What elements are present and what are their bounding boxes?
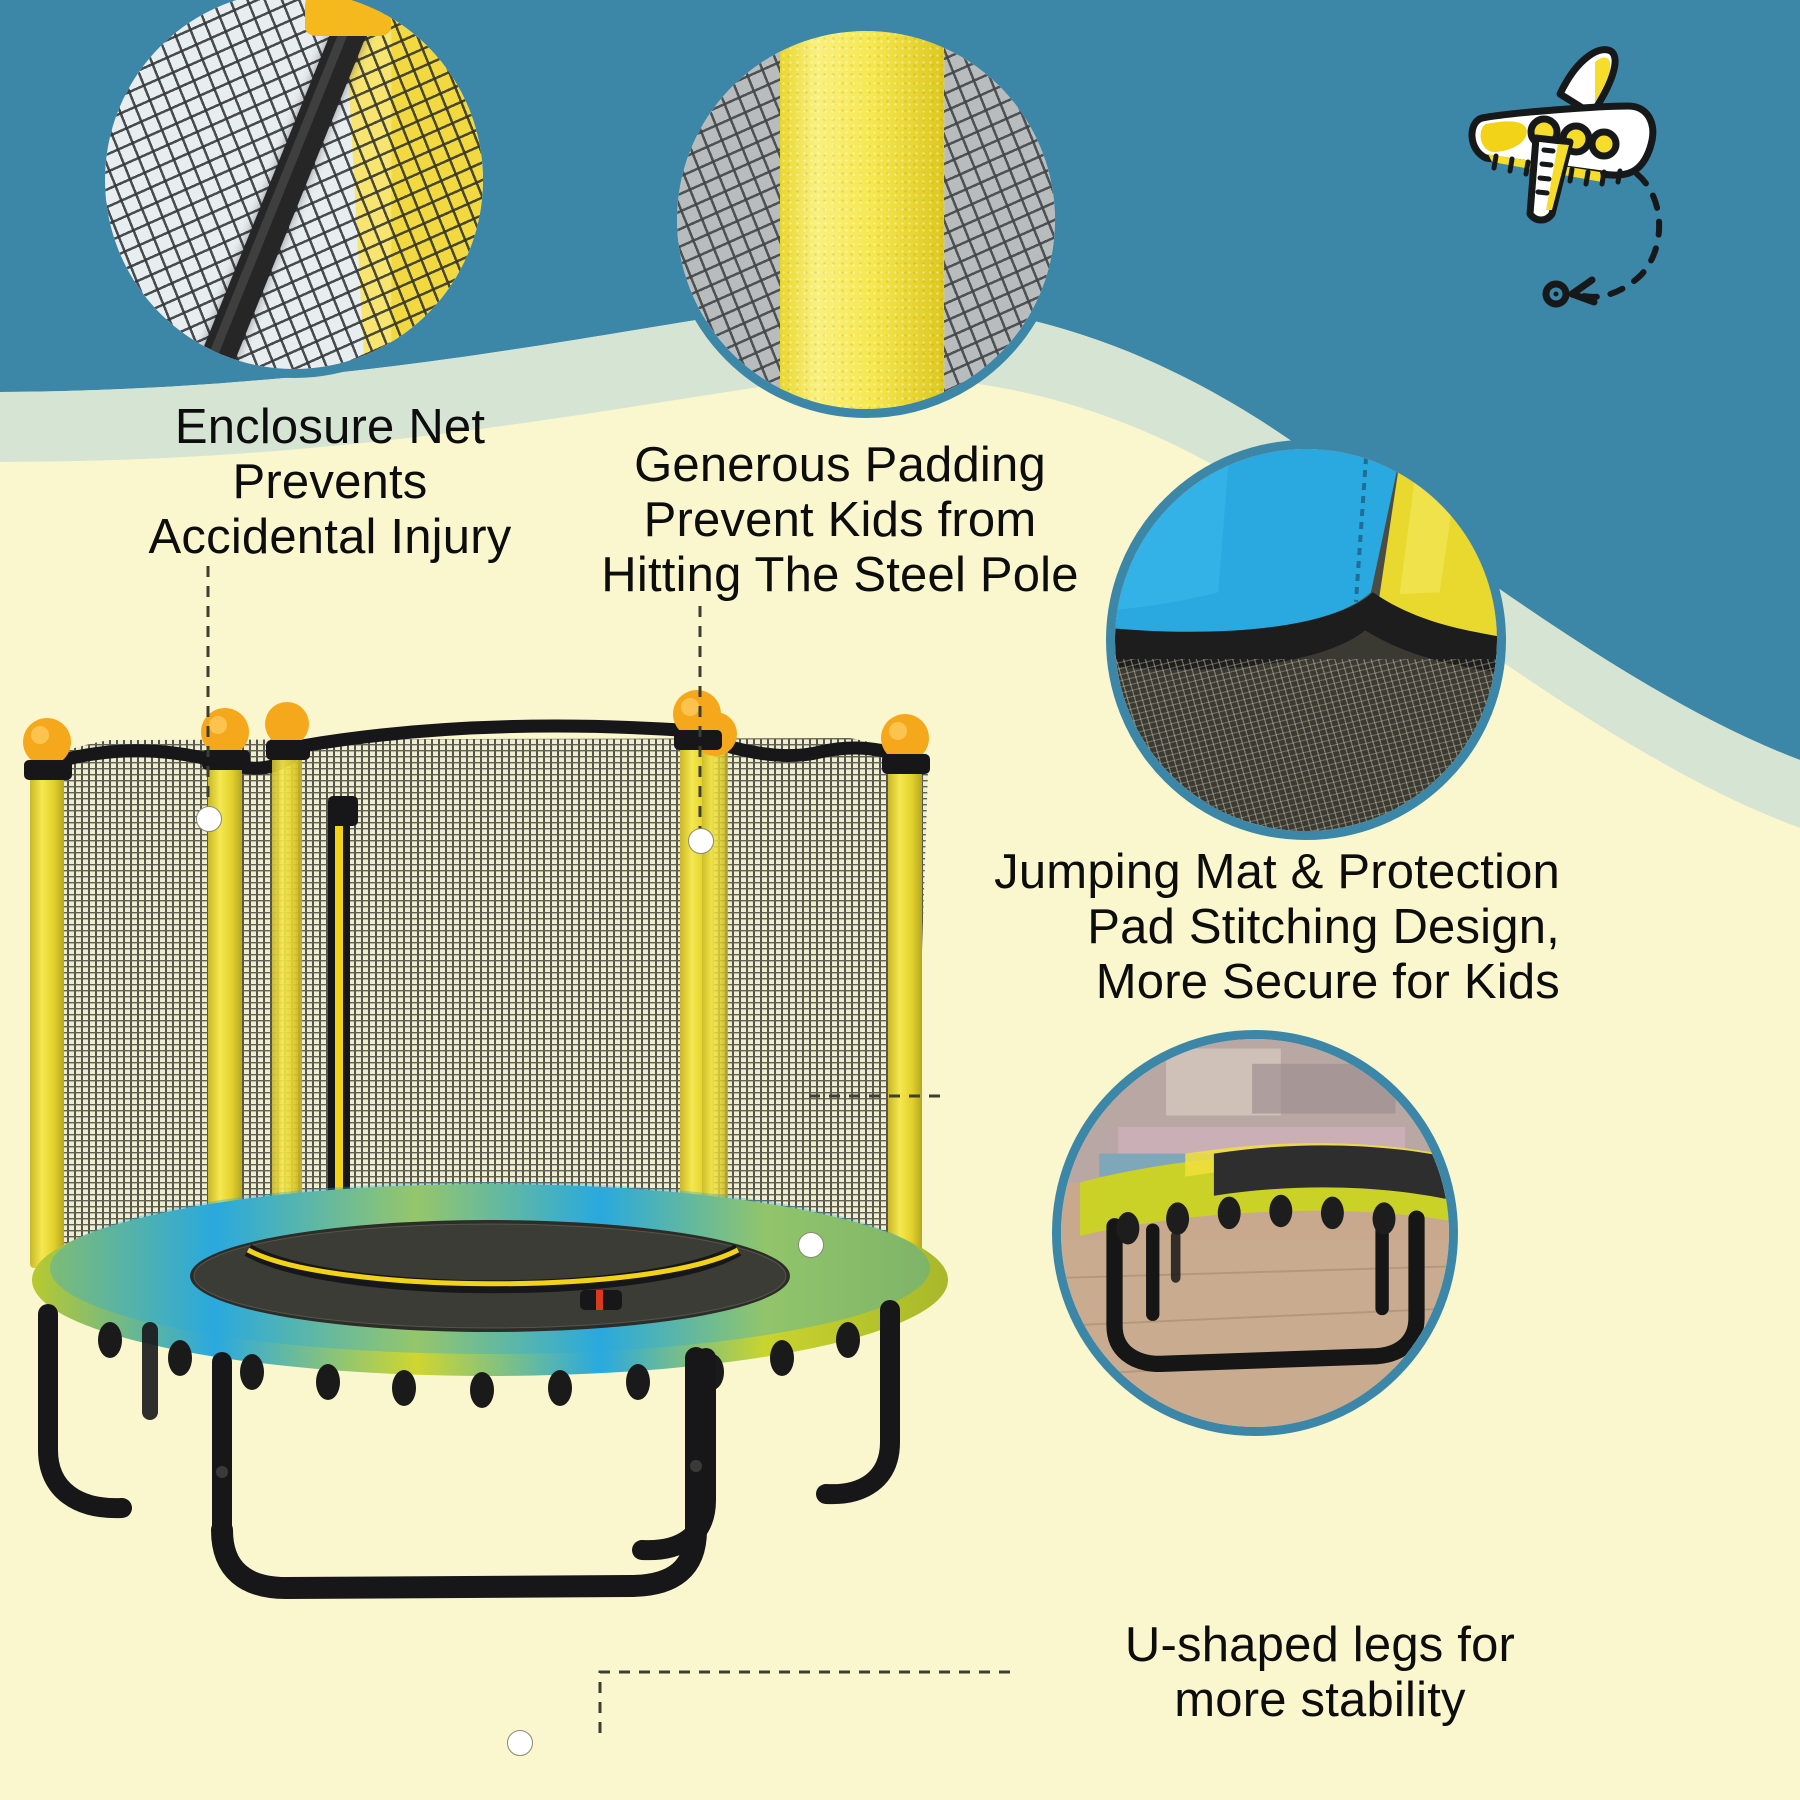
foam-pole-sleeve: [780, 31, 944, 409]
marker-dot-padding: [688, 828, 714, 854]
airplane-icon: [1452, 22, 1792, 312]
pole-cap-orange: [305, 0, 391, 36]
foam-pole-padding-closeup-photo: [668, 22, 1064, 418]
pad-stitching-closeup-photo: [1106, 440, 1506, 840]
mat-texture-overlay: [1115, 659, 1497, 831]
infographic-canvas: Enclosure Net Prevents Accidental Injury…: [0, 0, 1800, 1800]
marker-dot-legs: [507, 1730, 533, 1756]
leg-joint-bolts: [216, 1460, 702, 1478]
callout-generous-padding-text: Generous Padding Prevent Kids from Hitti…: [540, 438, 1140, 603]
plane-window-3: [1592, 132, 1616, 156]
product-trampoline-image: [0, 690, 1000, 1620]
zipper-pull-tab: [596, 1290, 603, 1310]
callout-enclosure-net-text: Enclosure Net Prevents Accidental Injury: [60, 400, 600, 565]
marker-dot-stitching: [798, 1232, 824, 1258]
callout-u-shaped-legs-text: U-shaped legs for more stability: [1040, 1618, 1600, 1728]
callout-mat-stitching-text: Jumping Mat & Protection Pad Stitching D…: [880, 845, 1560, 1010]
front-u-leg: [222, 1358, 696, 1588]
enclosure-net-closeup-photo: [96, 0, 492, 378]
marker-dot-enclosure-net: [196, 806, 222, 832]
plane-trail-arrow: [1572, 280, 1594, 302]
u-shaped-legs-closeup-photo: [1052, 1030, 1458, 1436]
